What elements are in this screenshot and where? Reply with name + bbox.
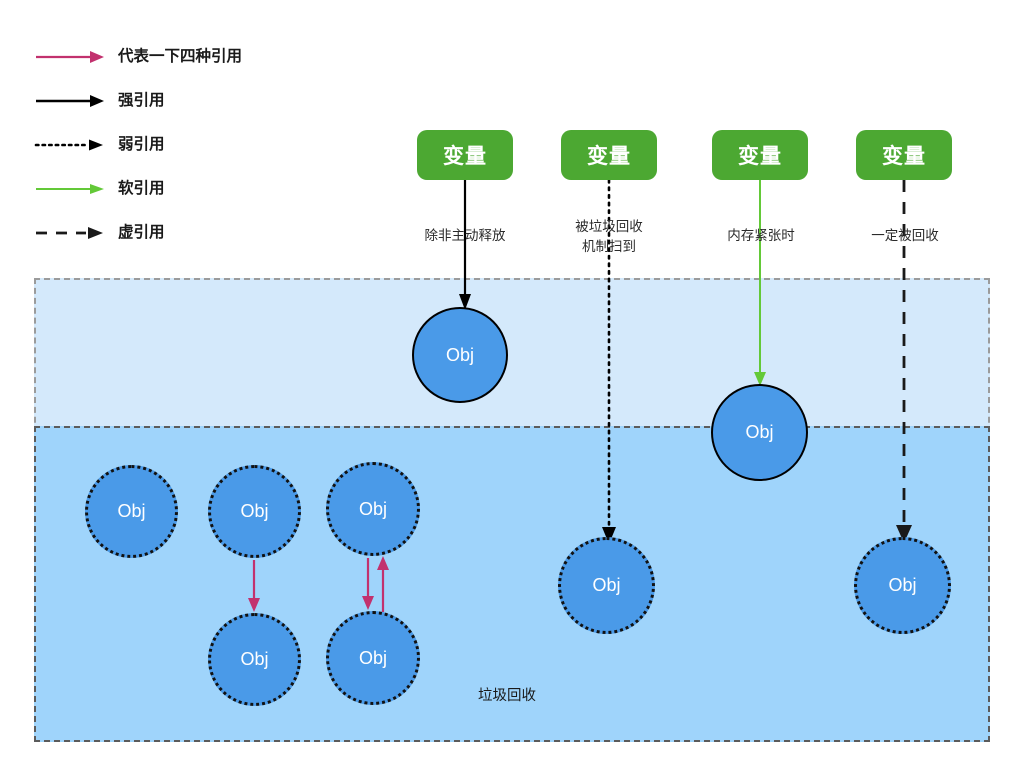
arrow-right-icon — [34, 90, 106, 112]
object-node-label: Obj — [240, 501, 268, 522]
legend-item-phantom-reference: 虚引用 — [34, 222, 334, 266]
variable-box-weak[interactable]: 变量 — [561, 130, 657, 180]
object-node-label: Obj — [446, 345, 474, 366]
object-node-strong[interactable]: Obj — [412, 307, 508, 403]
object-node-label: Obj — [117, 501, 145, 522]
diagram-canvas: 代表一下四种引用 强引用 弱引用 软引用 — [0, 0, 1024, 768]
caption-line-1: 一定被回收 — [844, 226, 966, 246]
legend-item-generic-reference: 代表一下四种引用 — [34, 46, 334, 90]
legend-item-label: 软引用 — [118, 179, 165, 199]
variable-box-label: 变量 — [738, 140, 782, 170]
object-node-label: Obj — [745, 422, 773, 443]
variable-box-label: 变量 — [443, 140, 487, 170]
variable-box-soft[interactable]: 变量 — [712, 130, 808, 180]
arrow-right-dashed-icon — [34, 222, 106, 244]
legend: 代表一下四种引用 强引用 弱引用 软引用 — [34, 46, 334, 266]
object-node-label: Obj — [888, 575, 916, 596]
variable-box-strong[interactable]: 变量 — [417, 130, 513, 180]
legend-item-label: 虚引用 — [118, 223, 165, 243]
caption-phantom-reference: 一定被回收 — [844, 226, 966, 246]
caption-strong-reference: 除非主动释放 — [404, 226, 526, 246]
object-node-unreachable-1[interactable]: Obj — [85, 465, 178, 558]
object-node-soft[interactable]: Obj — [711, 384, 808, 481]
legend-item-label: 代表一下四种引用 — [118, 47, 242, 67]
variable-box-phantom[interactable]: 变量 — [856, 130, 952, 180]
object-node-unreachable-4[interactable]: Obj — [208, 613, 301, 706]
object-node-label: Obj — [240, 649, 268, 670]
object-node-weak[interactable]: Obj — [558, 537, 655, 634]
object-node-unreachable-3[interactable]: Obj — [326, 462, 420, 556]
object-node-label: Obj — [359, 648, 387, 669]
caption-line-1: 内存紧张时 — [700, 226, 822, 246]
legend-item-soft-reference: 软引用 — [34, 178, 334, 222]
caption-line-1: 除非主动释放 — [404, 226, 526, 246]
object-node-unreachable-5[interactable]: Obj — [326, 611, 420, 705]
caption-weak-reference: 被垃圾回收 机制扫到 — [548, 217, 670, 257]
arrow-right-icon — [34, 178, 106, 200]
arrow-right-icon — [34, 46, 106, 68]
arrow-right-dotted-icon — [34, 134, 106, 156]
legend-item-label: 弱引用 — [118, 135, 165, 155]
object-node-phantom[interactable]: Obj — [854, 537, 951, 634]
legend-item-label: 强引用 — [118, 91, 165, 111]
caption-line-2: 机制扫到 — [548, 237, 670, 257]
caption-soft-reference: 内存紧张时 — [700, 226, 822, 246]
variable-box-label: 变量 — [587, 140, 631, 170]
caption-line-1: 被垃圾回收 — [548, 217, 670, 237]
variable-box-label: 变量 — [882, 140, 926, 170]
garbage-collection-label: 垃圾回收 — [478, 684, 536, 705]
object-node-label: Obj — [592, 575, 620, 596]
object-node-unreachable-2[interactable]: Obj — [208, 465, 301, 558]
object-node-label: Obj — [359, 499, 387, 520]
legend-item-weak-reference: 弱引用 — [34, 134, 334, 178]
legend-item-strong-reference: 强引用 — [34, 90, 334, 134]
